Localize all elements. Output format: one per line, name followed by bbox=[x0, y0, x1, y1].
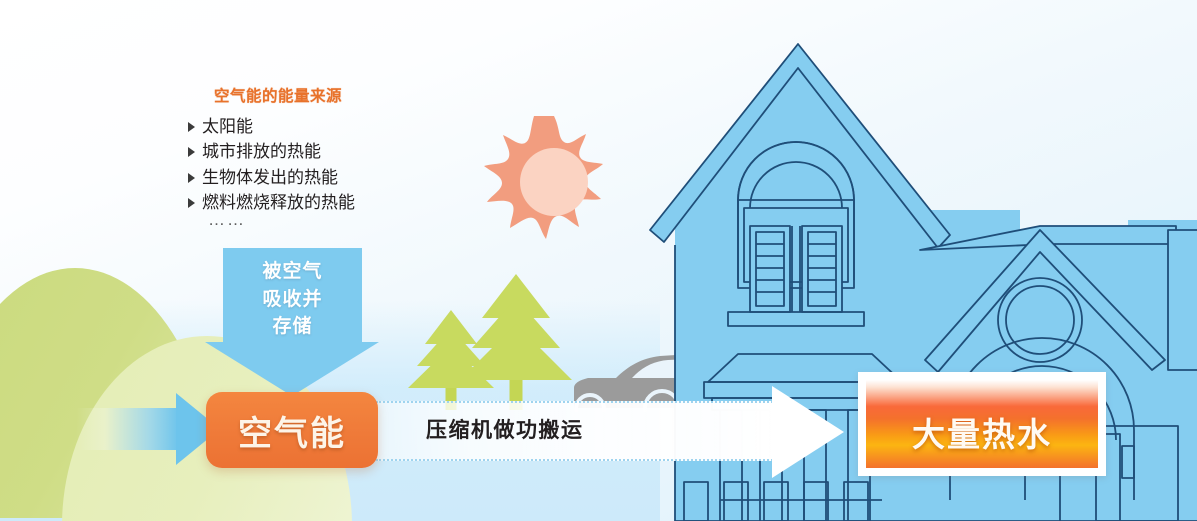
intake-arrow bbox=[76, 393, 220, 465]
triangle-bullet-icon bbox=[188, 147, 195, 157]
air-energy-infographic: 空气能的能量来源 太阳能 城市排放的热能 生物体发出的热能 燃料燃烧释放的热能 … bbox=[0, 0, 1197, 521]
arrow-head bbox=[772, 386, 844, 478]
sun-icon bbox=[484, 112, 624, 252]
triangle-bullet-icon bbox=[188, 198, 195, 208]
list-item: 城市排放的热能 bbox=[186, 139, 446, 164]
transfer-arrow-label: 压缩机做功搬运 bbox=[426, 414, 726, 444]
list-item-label: 城市排放的热能 bbox=[202, 140, 321, 163]
absorb-arrow-line-2: 吸收并 bbox=[205, 286, 380, 314]
energy-source-list: 空气能的能量来源 太阳能 城市排放的热能 生物体发出的热能 燃料燃烧释放的热能 … bbox=[186, 84, 446, 228]
list-item: 生物体发出的热能 bbox=[186, 165, 446, 190]
output-panel-fill: 大量热水 bbox=[866, 380, 1098, 468]
absorb-arrow-label: 被空气 吸收并 存储 bbox=[205, 258, 380, 341]
source-tag: 空气能 bbox=[206, 392, 378, 468]
absorb-arrow: 被空气 吸收并 存储 bbox=[205, 248, 380, 396]
source-tag-label: 空气能 bbox=[238, 406, 346, 455]
absorb-arrow-line-1: 被空气 bbox=[205, 258, 380, 286]
output-panel-label: 大量热水 bbox=[912, 408, 1052, 456]
arrow-shaft bbox=[76, 408, 179, 450]
absorb-arrow-line-3: 存储 bbox=[205, 313, 380, 341]
list-heading: 空气能的能量来源 bbox=[214, 84, 446, 106]
triangle-bullet-icon bbox=[188, 173, 195, 183]
list-item: 太阳能 bbox=[186, 114, 446, 139]
triangle-bullet-icon bbox=[188, 122, 195, 132]
list-item-label: 太阳能 bbox=[202, 115, 253, 138]
transfer-arrow: 压缩机做功搬运 bbox=[376, 386, 846, 478]
list-items: 太阳能 城市排放的热能 生物体发出的热能 燃料燃烧释放的热能 bbox=[186, 114, 446, 216]
list-item-label: 生物体发出的热能 bbox=[202, 166, 338, 189]
arrow-head bbox=[205, 342, 379, 396]
output-panel: 大量热水 bbox=[858, 372, 1106, 476]
